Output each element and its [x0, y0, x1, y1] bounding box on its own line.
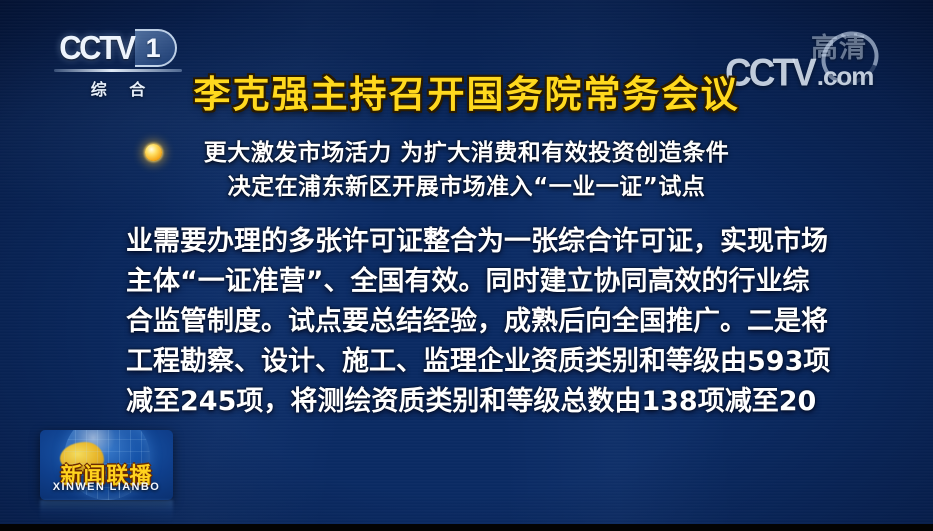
body-line: 业需要办理的多张许可证整合为一张综合许可证，实现市场: [126, 222, 826, 262]
body-line: 合监管制度。试点要总结经验，成熟后向全国推广。二是将: [126, 302, 826, 342]
program-badge: 新闻联播 XINWEN LIANBO: [40, 430, 173, 500]
subtitle-line: 更大激发市场活力 为扩大消费和有效投资创造条件: [204, 136, 730, 170]
channel-logo-row: CCTV 1: [48, 28, 188, 68]
subtitle-line: 决定在浦东新区开展市场准入“一业一证”试点: [228, 170, 706, 204]
channel-number-badge: 1: [135, 29, 177, 67]
channel-logo-wordmark: CCTV: [59, 29, 133, 68]
headline-text: 李克强主持召开国务院常务会议: [194, 64, 740, 118]
body-line: 减至245项，将测绘资质类别和等级总数由138项减至20: [126, 382, 826, 422]
headline: 李克强主持召开国务院常务会议: [0, 64, 933, 118]
subtitle-row-2: 决定在浦东新区开展市场准入“一业一证”试点: [0, 170, 933, 204]
channel-number-label: 1: [146, 33, 161, 64]
body-line: 主体“一证准营”、全国有效。同时建立协同高效的行业综: [126, 262, 826, 302]
subtitle-row-1: 更大激发市场活力 为扩大消费和有效投资创造条件: [0, 136, 933, 170]
program-title-pinyin: XINWEN LIANBO: [40, 481, 173, 493]
subtitle-block: 更大激发市场活力 为扩大消费和有效投资创造条件 决定在浦东新区开展市场准入“一业…: [0, 136, 933, 204]
letterbox-bar: [0, 524, 933, 531]
broadcast-frame: CCTV 1 综 合 高清 CCTV .com 李克强主持召开国务院常务会议 更…: [0, 0, 933, 531]
body-text-block: 业需要办理的多张许可证整合为一张综合许可证，实现市场 主体“一证准营”、全国有效…: [126, 222, 826, 422]
body-line: 工程勘察、设计、施工、监理企业资质类别和等级由593项: [126, 342, 826, 382]
program-badge-reflection: [40, 500, 173, 522]
